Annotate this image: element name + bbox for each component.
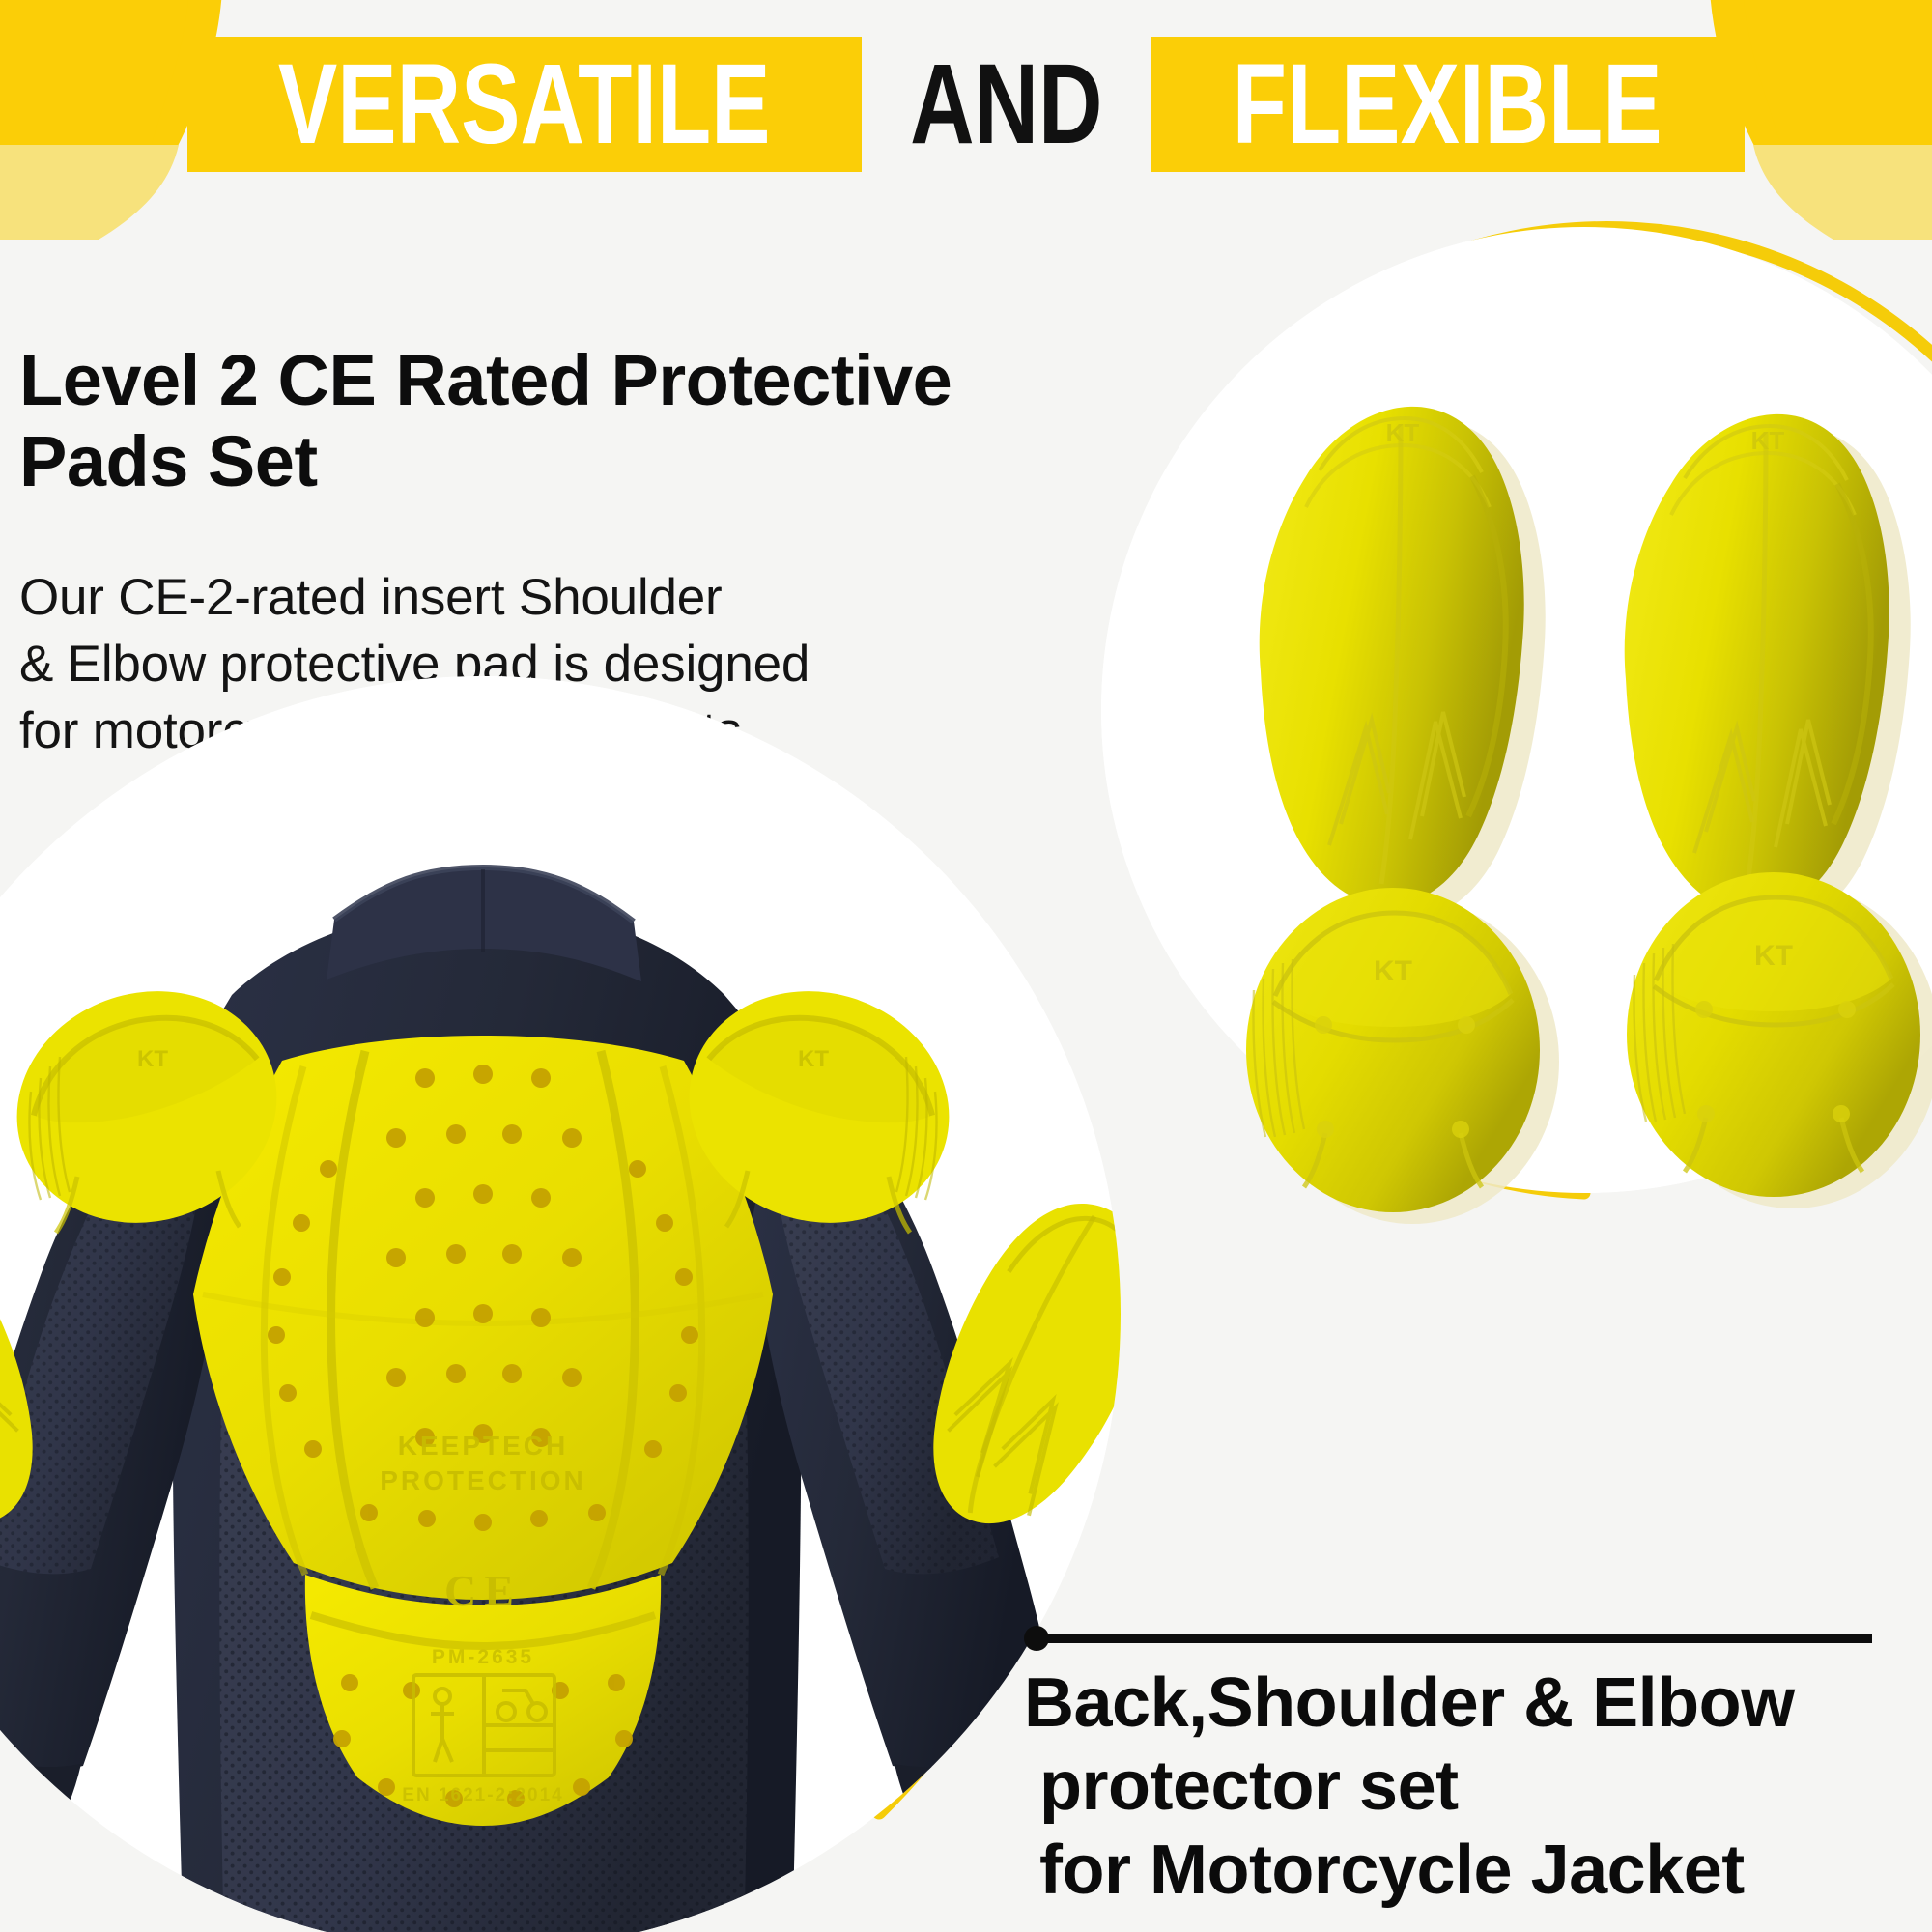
part-code-emboss: PM-2635 bbox=[432, 1646, 534, 1668]
banner-word-flexible: FLEXIBLE bbox=[1233, 47, 1662, 161]
callout-line-1: Back,Shoulder & Elbow bbox=[1024, 1662, 1922, 1745]
banner-chip-versatile: VERSATILE bbox=[187, 37, 861, 172]
elbow-pad-left-brand-emboss: KT bbox=[1386, 418, 1420, 447]
jacket-photo-panel: KEEPTECH PROTECTION CE PM-2635 bbox=[0, 676, 1198, 1932]
description-line-1: Our CE-2-rated insert Shoulder bbox=[19, 565, 985, 632]
pads-photo-panel: KT KT bbox=[1082, 217, 1932, 1222]
callout-line-2: protector set bbox=[1024, 1745, 1922, 1828]
callout-line-3: for Motorcycle Jacket bbox=[1024, 1829, 1922, 1912]
shoulder-pad-left-brand-emboss: KT bbox=[1374, 955, 1412, 987]
shoulder-pad-right-brand-emboss: KT bbox=[1754, 940, 1793, 972]
svg-text:KT: KT bbox=[798, 1046, 829, 1072]
banner-chip-flexible: FLEXIBLE bbox=[1151, 37, 1744, 172]
back-protector-pad: KEEPTECH PROTECTION bbox=[193, 1036, 773, 1600]
banner-word-and: AND bbox=[910, 47, 1102, 161]
page-title: Level 2 CE Rated Protective Pads Set bbox=[19, 340, 1005, 501]
back-protector-brand-line2: PROTECTION bbox=[380, 1465, 586, 1495]
callout-text: Back,Shoulder & Elbow protector set for … bbox=[1024, 1662, 1922, 1912]
banner-word-versatile: VERSATILE bbox=[278, 47, 771, 161]
infographic-canvas: VERSATILE AND FLEXIBLE Level 2 CE Rated … bbox=[0, 0, 1932, 1932]
callout-block: Back,Shoulder & Elbow protector set for … bbox=[1024, 1623, 1922, 1912]
elbow-pad-right-brand-emboss: KT bbox=[1751, 426, 1785, 455]
elbow-pad-left: KT bbox=[1260, 407, 1546, 919]
back-protector-brand-line1: KEEPTECH bbox=[398, 1431, 568, 1461]
banner-headline: VERSATILE AND FLEXIBLE bbox=[0, 37, 1932, 172]
elbow-pad-right: KT bbox=[1625, 414, 1911, 926]
callout-horizontal-line bbox=[1041, 1634, 1872, 1643]
callout-rule bbox=[1024, 1623, 1922, 1648]
banner-chip-and: AND bbox=[879, 37, 1134, 172]
standard-code-emboss: EN 1621-2:2014 bbox=[402, 1785, 563, 1805]
ce-mark-emboss: CE bbox=[444, 1566, 522, 1615]
svg-text:KT: KT bbox=[137, 1046, 168, 1072]
